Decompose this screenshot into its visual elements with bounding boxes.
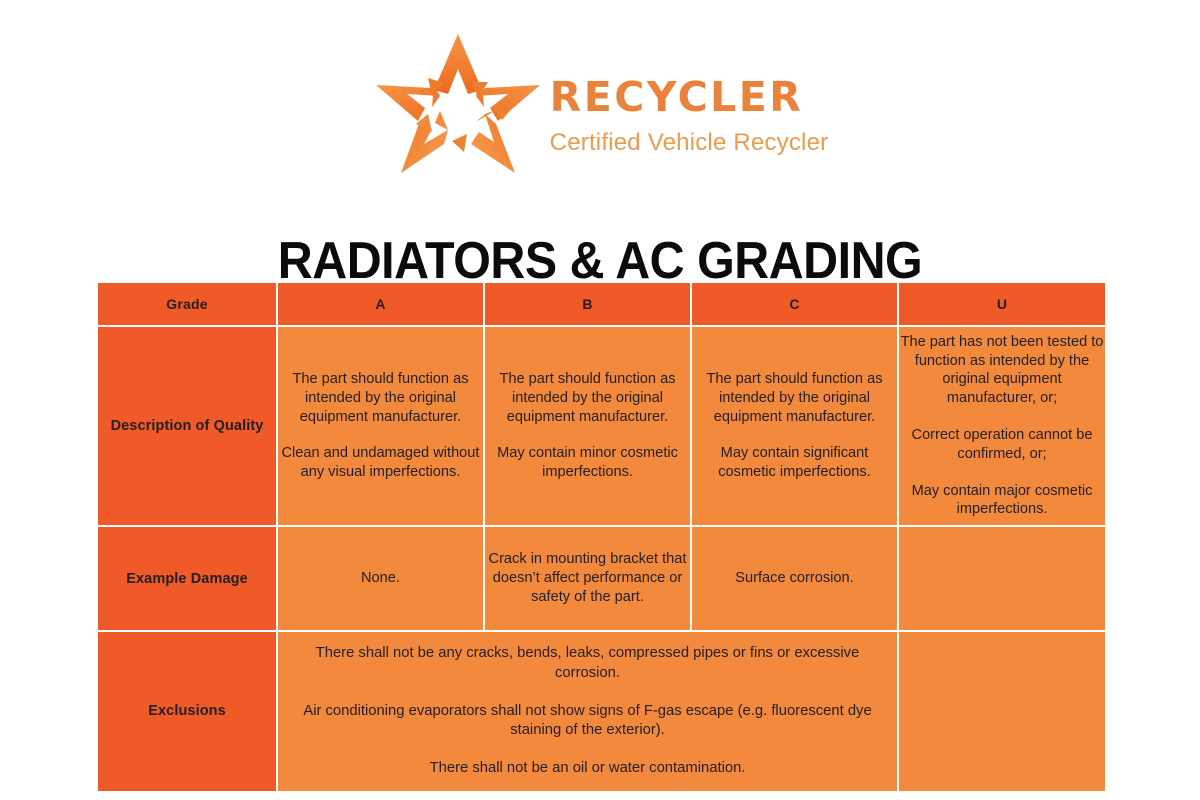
table-row-description: Description of Quality The part should f…: [98, 327, 1105, 525]
row-label-description: Description of Quality: [98, 327, 276, 525]
row-label-exclusions: Exclusions: [98, 632, 276, 791]
cell-example-damage-c: Surface corrosion.: [692, 527, 897, 630]
header-cell-b: B: [485, 283, 690, 325]
cell-exclusions-merged: There shall not be any cracks, bends, le…: [278, 632, 897, 791]
header-cell-u: U: [899, 283, 1105, 325]
header-cell-grade: Grade: [98, 283, 276, 325]
table-row-exclusions: Exclusions There shall not be any cracks…: [98, 632, 1105, 791]
grading-chart-page: RECYCLER Certified Vehicle Recycler RADI…: [0, 0, 1200, 800]
logo-text-block: RECYCLER Certified Vehicle Recycler: [550, 47, 829, 155]
cell-exclusions-u: [899, 632, 1105, 791]
cell-example-damage-b: Crack in mounting bracket that doesn’t a…: [485, 527, 690, 630]
header-cell-a: A: [278, 283, 483, 325]
cell-description-c: The part should function as intended by …: [692, 327, 897, 525]
logo-wordmark: RECYCLER: [550, 77, 804, 118]
grading-table: Grade A B C U Description of Quality The…: [96, 281, 1107, 793]
cell-description-b: The part should function as intended by …: [485, 327, 690, 525]
cell-description-a: The part should function as intended by …: [278, 327, 483, 525]
header-cell-c: C: [692, 283, 897, 325]
cell-example-damage-a: None.: [278, 527, 483, 630]
recycling-star-icon: [372, 28, 544, 173]
cell-description-u: The part has not been tested to function…: [899, 327, 1105, 525]
table-header-row: Grade A B C U: [98, 283, 1105, 325]
table-row-example-damage: Example Damage None. Crack in mounting b…: [98, 527, 1105, 630]
brand-logo: RECYCLER Certified Vehicle Recycler: [0, 28, 1200, 173]
cell-example-damage-u: [899, 527, 1105, 630]
logo-tagline: Certified Vehicle Recycler: [550, 131, 829, 155]
row-label-example-damage: Example Damage: [98, 527, 276, 630]
logo-inner: RECYCLER Certified Vehicle Recycler: [372, 28, 829, 173]
